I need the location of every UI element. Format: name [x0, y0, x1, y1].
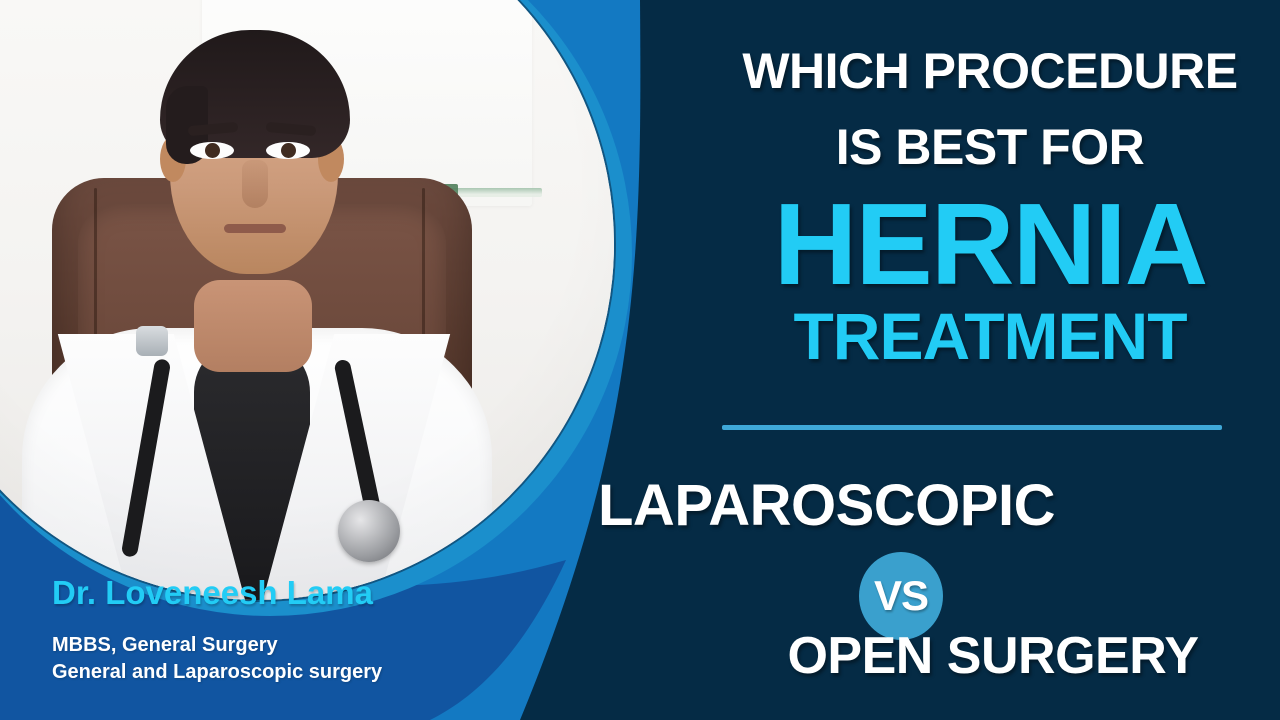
doctor-photo [0, 0, 614, 600]
headline-keyword-hernia: HERNIA [700, 186, 1280, 302]
thumbnail-canvas: Dr. Loveneesh Lama MBBS, General Surgery… [0, 0, 1280, 720]
doctor-credential-line-1: MBBS, General Surgery [52, 632, 382, 659]
doctor-credentials: MBBS, General Surgery General and Laparo… [52, 632, 382, 686]
headline-keyword-treatment: TREATMENT [700, 303, 1280, 369]
comparison-option-laparoscopic: LAPAROSCOPIC [598, 477, 1054, 535]
headline-line-1: WHICH PROCEDURE [700, 46, 1280, 96]
doctor-name: Dr. Loveneesh Lama [52, 576, 373, 609]
section-divider [722, 425, 1222, 430]
photo-vignette [0, 0, 614, 600]
comparison-option-open-surgery: OPEN SURGERY [765, 630, 1221, 682]
doctor-credential-line-2: General and Laparoscopic surgery [52, 659, 382, 686]
versus-label: VS [874, 575, 928, 617]
headline-line-2: IS BEST FOR [700, 122, 1280, 172]
